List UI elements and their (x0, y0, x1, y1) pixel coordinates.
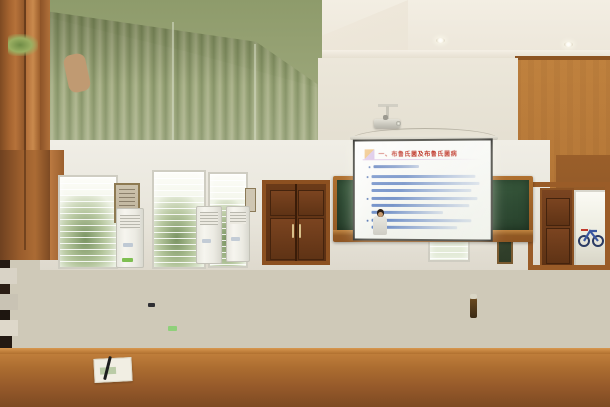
desk-row (0, 308, 306, 321)
foreground-desk (0, 352, 610, 407)
slide-bullet-marker (367, 176, 369, 178)
presenter-face (378, 212, 383, 217)
phone-device (148, 303, 155, 307)
desk-row (0, 286, 318, 297)
bench-seat (0, 322, 300, 329)
door-panel (270, 190, 296, 216)
slide-body-line (371, 182, 479, 185)
door-center-seam (295, 184, 297, 261)
slide-subtitle (373, 165, 419, 168)
side-door-frame (528, 182, 610, 270)
tshirt-graphic (8, 34, 38, 56)
bottle-cap (470, 294, 477, 299)
ac-label (122, 258, 133, 262)
wooden-pilaster (40, 0, 50, 175)
desk-front-edge (0, 348, 610, 354)
presenter-torso (373, 216, 387, 235)
door-handle[interactable] (299, 224, 301, 238)
air-conditioner-unit (226, 206, 250, 262)
desk-row (452, 268, 610, 277)
slide-body-line (371, 197, 477, 200)
slide-bullet-marker (369, 166, 371, 168)
slide-logo-icon (365, 149, 375, 159)
slide-body-line (371, 204, 469, 207)
slide-body-line (371, 175, 475, 178)
air-conditioner-unit (196, 206, 222, 264)
notebook[interactable] (93, 357, 132, 383)
drink-bottle (470, 298, 477, 318)
door-panel (298, 190, 324, 216)
slide-bullet-marker (367, 220, 369, 222)
slide-title: 一、布鲁氏菌及布鲁氏菌病 (378, 149, 457, 158)
desk-row (0, 268, 330, 277)
phone-screen (168, 326, 177, 331)
window (58, 175, 118, 269)
ceiling-downlight-icon (564, 42, 573, 47)
slide-title-rule (363, 159, 481, 161)
ceiling-downlight-icon (436, 38, 445, 43)
ac-vent (120, 215, 140, 229)
ac-display (202, 239, 211, 243)
ac-display (123, 243, 133, 247)
desk-row (438, 312, 610, 325)
ac-vent (200, 212, 218, 225)
ac-vent (230, 212, 246, 224)
door-panel (298, 218, 324, 260)
air-conditioner-unit (116, 208, 144, 268)
slide-bullet-marker (367, 198, 369, 200)
window-grille (60, 177, 116, 267)
lecture-hall-photo: 一、布鲁氏菌及布鲁氏菌病 (0, 0, 610, 407)
ac-display (231, 237, 240, 241)
wood-panel-trim (515, 56, 610, 60)
desk-sheen (0, 352, 610, 377)
door-handle[interactable] (292, 224, 294, 238)
projector-lens-icon (396, 121, 401, 126)
projector-knob (383, 115, 388, 120)
slide-body-line (371, 189, 471, 192)
